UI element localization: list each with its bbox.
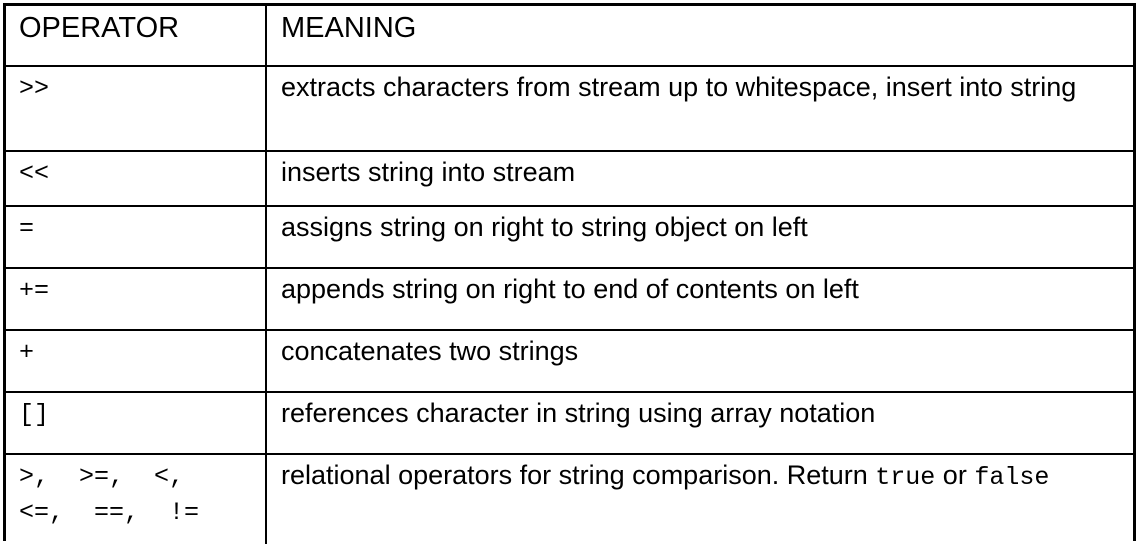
table-row: + concatenates two strings [6, 330, 1133, 392]
meaning-text: references character in string using arr… [267, 397, 1133, 430]
cell-meaning-relational: relational operators for string comparis… [266, 454, 1133, 544]
cell-operator-concat: + [6, 330, 266, 392]
meaning-text: assigns string on right to string object… [267, 211, 1133, 244]
operator-symbol: [] [6, 397, 265, 433]
meaning-text-part2: or [935, 460, 974, 490]
cell-operator-append: += [6, 268, 266, 330]
cell-meaning-append: appends string on right to end of conten… [266, 268, 1133, 330]
table-header-row: OPERATOR MEANING [6, 6, 1133, 66]
table-row: [] references character in string using … [6, 392, 1133, 454]
header-label-operator: OPERATOR [6, 10, 265, 46]
operator-symbol: << [6, 156, 265, 192]
table-row: >, >=, <, <=, ==, != relational operator… [6, 454, 1133, 544]
cell-operator-insert: << [6, 151, 266, 206]
meaning-text: extracts characters from stream up to wh… [267, 71, 1133, 104]
meaning-text: inserts string into stream [267, 156, 1133, 189]
cell-meaning-insert: inserts string into stream [266, 151, 1133, 206]
table-row: = assigns string on right to string obje… [6, 206, 1133, 268]
cell-operator-assign: = [6, 206, 266, 268]
cell-meaning-concat: concatenates two strings [266, 330, 1133, 392]
table-row: += appends string on right to end of con… [6, 268, 1133, 330]
operator-symbol: += [6, 273, 265, 309]
cell-operator-relational: >, >=, <, <=, ==, != [6, 454, 266, 544]
cell-meaning-index: references character in string using arr… [266, 392, 1133, 454]
header-cell-meaning: MEANING [266, 6, 1133, 66]
operators-table-container: OPERATOR MEANING >> extracts characters … [3, 3, 1136, 541]
cell-operator-index: [] [6, 392, 266, 454]
meaning-text: appends string on right to end of conten… [267, 273, 1133, 306]
table-body: OPERATOR MEANING >> extracts characters … [6, 6, 1133, 544]
meaning-text: concatenates two strings [267, 335, 1133, 368]
cell-meaning-assign: assigns string on right to string object… [266, 206, 1133, 268]
meaning-text-part1: relational operators for string comparis… [281, 460, 875, 490]
operator-symbol: = [6, 211, 265, 247]
header-label-meaning: MEANING [267, 10, 1133, 46]
operator-symbol: >, >=, <, <=, ==, != [6, 459, 265, 531]
cell-operator-extract: >> [6, 66, 266, 151]
code-literal-true: true [875, 463, 935, 492]
meaning-text: relational operators for string comparis… [267, 459, 1133, 494]
table-row: >> extracts characters from stream up to… [6, 66, 1133, 151]
operator-symbol: + [6, 335, 265, 371]
cell-meaning-extract: extracts characters from stream up to wh… [266, 66, 1133, 151]
code-literal-false: false [974, 463, 1049, 492]
header-cell-operator: OPERATOR [6, 6, 266, 66]
operator-symbol: >> [6, 71, 265, 107]
string-operators-table: OPERATOR MEANING >> extracts characters … [6, 6, 1133, 544]
table-row: << inserts string into stream [6, 151, 1133, 206]
